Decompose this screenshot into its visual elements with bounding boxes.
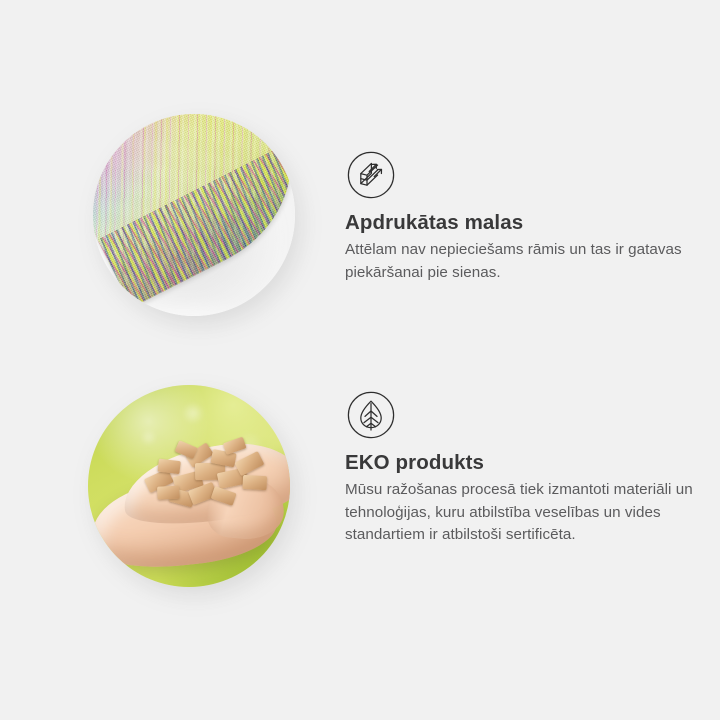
- feature-description-eco-product: Mūsu ražošanas procesā tiek izmantoti ma…: [345, 479, 693, 547]
- printed-edges-text-block: Apdrukātas malas Attēlam nav nepieciešam…: [345, 210, 693, 284]
- leaf-icon: [347, 391, 395, 439]
- eco-product-text-block: EKO produkts Mūsu ražošanas procesā tiek…: [345, 450, 693, 547]
- feature-title-eco-product: EKO produkts: [345, 450, 693, 476]
- canvas-wrapped-edges-icon: [347, 151, 395, 199]
- wood-chip-pile: [139, 429, 280, 528]
- feature-panel: Apdrukātas malas Attēlam nav nepieciešam…: [0, 0, 720, 720]
- feature-description-printed-edges: Attēlam nav nepieciešams rāmis un tas ir…: [345, 239, 693, 284]
- canvas-print-corner-photo: [93, 114, 295, 316]
- hands-holding-wood-chips-photo: [88, 385, 290, 587]
- feature-title-printed-edges: Apdrukātas malas: [345, 210, 693, 236]
- feature-eco-product: EKO produkts Mūsu ražošanas procesā tiek…: [0, 360, 720, 720]
- feature-printed-edges: Apdrukātas malas Attēlam nav nepieciešam…: [0, 0, 720, 360]
